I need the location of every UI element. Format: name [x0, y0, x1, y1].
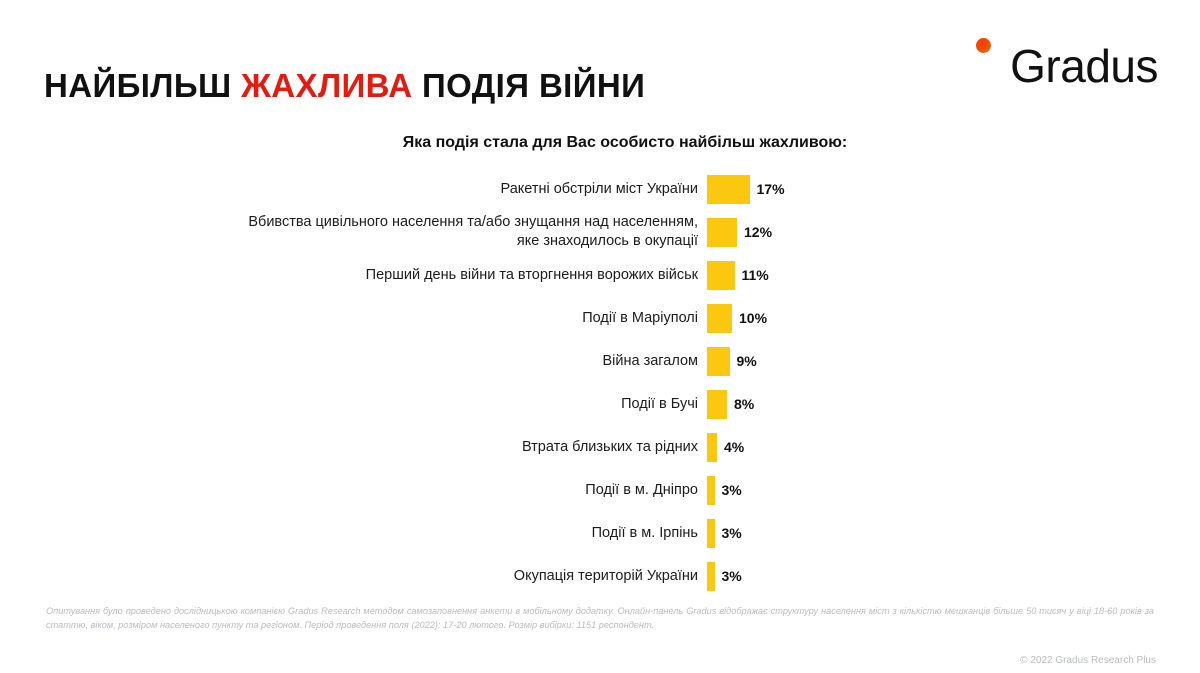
bar-row: Події в Бучі 8%	[0, 383, 1200, 425]
bar-label: Окупація територій України	[0, 567, 707, 586]
bar-row: Події в Маріуполі 10%	[0, 297, 1200, 339]
gradus-dot-icon	[976, 38, 991, 53]
bar-value: 12%	[744, 224, 772, 240]
page-title: НАЙБІЛЬШ ЖАХЛИВА ПОДІЯ ВІЙНИ	[44, 66, 645, 106]
bar-fill	[707, 433, 717, 462]
bar-row: Події в м. Ірпінь 3%	[0, 512, 1200, 554]
bar-value: 3%	[722, 568, 742, 584]
bar-track: 11%	[707, 254, 1200, 296]
bar-fill	[707, 476, 715, 505]
bar-label: Втрата близьких та рідних	[0, 438, 707, 457]
bar-track: 8%	[707, 383, 1200, 425]
bar-track: 17%	[707, 168, 1200, 210]
page-title-part1: НАЙБІЛЬШ	[44, 67, 241, 104]
bar-row: Події в м. Дніпро 3%	[0, 469, 1200, 511]
bar-track: 9%	[707, 340, 1200, 382]
bar-value: 4%	[724, 439, 744, 455]
page-title-highlight: ЖАХЛИВА	[241, 67, 412, 104]
bar-fill	[707, 390, 727, 419]
copyright-text: © 2022 Gradus Research Plus	[1020, 655, 1156, 666]
chart-title: Яка подія стала для Вас особисто найбіль…	[0, 134, 1200, 152]
bar-fill	[707, 218, 737, 247]
bar-value: 11%	[742, 267, 769, 283]
bar-value: 3%	[722, 525, 742, 541]
bar-row: Окупація територій України 3%	[0, 555, 1200, 597]
bar-label: Події в м. Ірпінь	[0, 524, 707, 543]
methodology-note: Опитування було проведено дослідницькою …	[46, 604, 1154, 633]
bar-value: 10%	[739, 310, 767, 326]
page-title-part2: ПОДІЯ ВІЙНИ	[412, 67, 645, 104]
bar-fill	[707, 562, 715, 591]
bar-fill	[707, 304, 732, 333]
bar-value: 8%	[734, 396, 754, 412]
bar-label: Війна загалом	[0, 352, 707, 371]
bar-track: 3%	[707, 555, 1200, 597]
bar-label: Події в Маріуполі	[0, 309, 707, 328]
bar-track: 10%	[707, 297, 1200, 339]
slide-header: НАЙБІЛЬШ ЖАХЛИВА ПОДІЯ ВІЙНИ Gradus	[0, 0, 1200, 110]
bar-row: Війна загалом 9%	[0, 340, 1200, 382]
bar-row: Втрата близьких та рідних 4%	[0, 426, 1200, 468]
bar-fill	[707, 261, 735, 290]
bar-fill	[707, 175, 750, 204]
slide-root: НАЙБІЛЬШ ЖАХЛИВА ПОДІЯ ВІЙНИ Gradus Яка …	[0, 0, 1200, 673]
bar-fill	[707, 347, 730, 376]
bar-track: 4%	[707, 426, 1200, 468]
bar-value: 9%	[737, 353, 757, 369]
bar-fill	[707, 519, 715, 548]
bar-label: Перший день війни та вторгнення ворожих …	[0, 266, 707, 285]
bar-label: Події в м. Дніпро	[0, 481, 707, 500]
bar-row: Ракетні обстріли міст України 17%	[0, 168, 1200, 210]
bar-row: Перший день війни та вторгнення ворожих …	[0, 254, 1200, 296]
gradus-logo: Gradus	[968, 34, 1158, 92]
bar-track: 3%	[707, 512, 1200, 554]
bar-chart: Ракетні обстріли міст України 17% Вбивст…	[0, 168, 1200, 588]
bar-value: 3%	[722, 482, 742, 498]
bar-label: Події в Бучі	[0, 395, 707, 414]
bar-track: 3%	[707, 469, 1200, 511]
bar-row: Вбивства цивільного населення та/або зну…	[0, 211, 1200, 253]
bar-track: 12%	[707, 211, 1200, 253]
bar-value: 17%	[757, 181, 785, 197]
bar-label: Ракетні обстріли міст України	[0, 180, 707, 199]
bar-label: Вбивства цивільного населення та/або зну…	[0, 213, 707, 251]
logo-wordmark: Gradus	[1010, 40, 1158, 92]
